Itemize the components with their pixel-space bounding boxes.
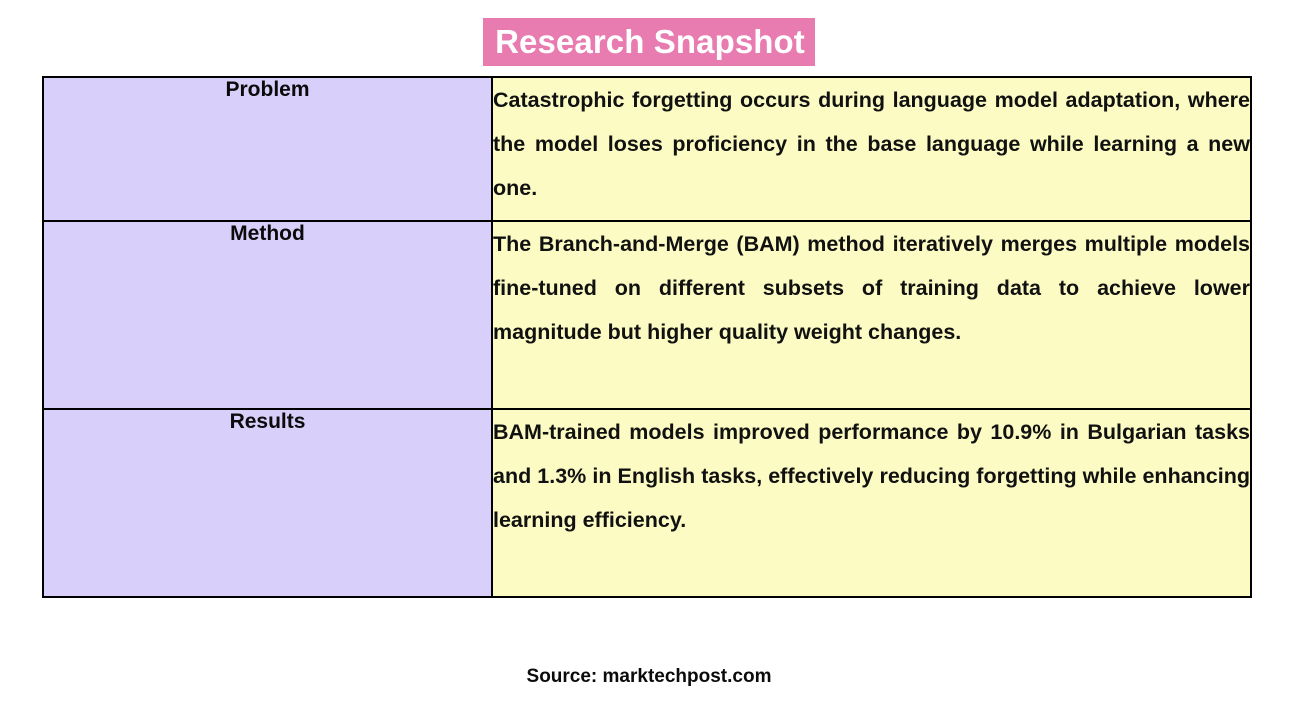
table-row: Problem Catastrophic forgetting occurs d… [43, 77, 1251, 221]
research-snapshot-table: Problem Catastrophic forgetting occurs d… [42, 76, 1252, 598]
row-body-text: Catastrophic forgetting occurs during la… [493, 78, 1250, 210]
research-snapshot-page: Research Snapshot Problem Catastrophic f… [0, 0, 1298, 712]
row-label-results: Results [43, 409, 492, 597]
row-label-method: Method [43, 221, 492, 409]
row-body-text: BAM-trained models improved performance … [493, 410, 1250, 542]
page-title: Research Snapshot [483, 18, 815, 66]
row-body-text: The Branch-and-Merge (BAM) method iterat… [493, 222, 1250, 354]
table-row: Method The Branch-and-Merge (BAM) method… [43, 221, 1251, 409]
row-body-results: BAM-trained models improved performance … [492, 409, 1251, 597]
row-body-method: The Branch-and-Merge (BAM) method iterat… [492, 221, 1251, 409]
page-title-container: Research Snapshot [0, 18, 1298, 66]
table-row: Results BAM-trained models improved perf… [43, 409, 1251, 597]
row-label-problem: Problem [43, 77, 492, 221]
source-attribution: Source: marktechpost.com [0, 666, 1298, 688]
row-body-problem: Catastrophic forgetting occurs during la… [492, 77, 1251, 221]
